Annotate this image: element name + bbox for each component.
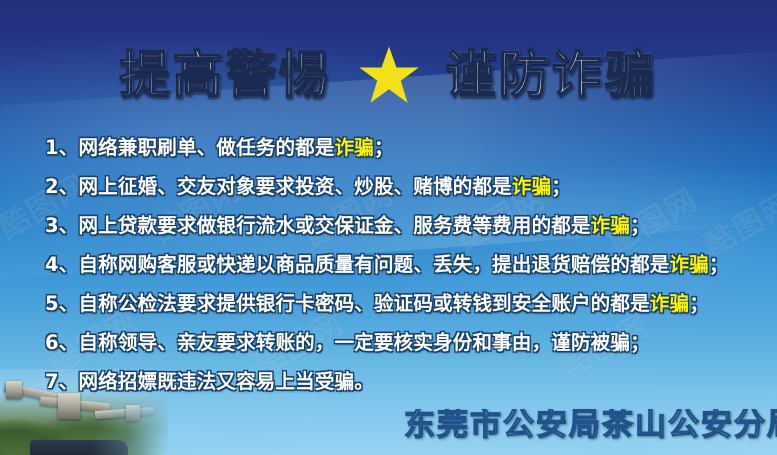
list-item-number: 5、 xyxy=(45,294,78,314)
list-item-text: 网络兼职刷单、做任务的都是 xyxy=(78,138,334,158)
list-item-text: 网上征婚、交友对象要求投资、炒股、赌博的都是 xyxy=(78,177,511,197)
list-item-text: 自称网购客服或快递以商品质量有问题、丢失，提出退货赔偿的都是 xyxy=(78,255,669,275)
list-item-number: 3、 xyxy=(45,216,78,236)
wall-segment-right xyxy=(95,407,155,419)
list-item-highlight: 诈骗 xyxy=(650,294,689,314)
list-item-highlight: 诈骗 xyxy=(512,177,551,197)
list-item: 7、网络招嫖既违法又容易上当受骗。 xyxy=(0,362,777,401)
title-left-text: 提高警惕 xyxy=(120,50,332,100)
list-item: 3、网上贷款要求做银行流水或交保证金、服务费等费用的都是诈骗； xyxy=(0,206,777,245)
list-item-suffix: ； xyxy=(630,216,650,236)
title-right-text: 谨防诈骗 xyxy=(446,50,658,100)
anti-fraud-poster: 酷图网 酷图网 酷图网 酷图网 酷图网 酷图网 酷图网 酷图网 酷图网 提高警惕… xyxy=(0,0,777,455)
list-item-number: 7、 xyxy=(45,372,78,392)
list-item-highlight: 诈骗 xyxy=(669,255,708,275)
list-item-number: 4、 xyxy=(45,255,78,275)
list-item-text: 网上贷款要求做银行流水或交保证金、服务费等费用的都是 xyxy=(78,216,590,236)
five-pointed-star-icon xyxy=(358,45,420,105)
list-item-text: 网络招嫖既违法又容易上当受骗。 xyxy=(78,372,374,392)
list-item-highlight: 诈骗 xyxy=(335,138,374,158)
list-item-suffix: ； xyxy=(689,294,709,314)
list-item-text: 自称领导、亲友要求转账的，一定要核实身份和事由，谨防被骗； xyxy=(78,333,649,353)
wall-watchtower-right xyxy=(126,405,140,421)
list-item-suffix: ； xyxy=(709,255,729,275)
photo-foreground-shadow xyxy=(30,440,127,455)
list-item-number: 6、 xyxy=(45,333,78,353)
list-item: 1、网络兼职刷单、做任务的都是诈骗； xyxy=(0,128,777,167)
issuing-authority-signature: 东莞市公安局茶山公安分局 xyxy=(404,409,777,442)
list-item-text: 自称公检法要求提供银行卡密码、验证码或转钱到安全账户的都是 xyxy=(78,294,649,314)
list-item-suffix: ； xyxy=(374,138,394,158)
list-item-number: 1、 xyxy=(45,138,78,158)
list-item: 2、网上征婚、交友对象要求投资、炒股、赌博的都是诈骗； xyxy=(0,167,777,206)
poster-title: 提高警惕 谨防诈骗 xyxy=(0,44,777,106)
list-item-suffix: ； xyxy=(551,177,571,197)
list-item: 6、自称领导、亲友要求转账的，一定要核实身份和事由，谨防被骗； xyxy=(0,323,777,362)
list-item: 5、自称公检法要求提供银行卡密码、验证码或转钱到安全账户的都是诈骗； xyxy=(0,284,777,323)
list-item-number: 2、 xyxy=(45,177,78,197)
tips-list: 1、网络兼职刷单、做任务的都是诈骗； 2、网上征婚、交友对象要求投资、炒股、赌博… xyxy=(0,128,777,401)
list-item: 4、自称网购客服或快递以商品质量有问题、丢失，提出退货赔偿的都是诈骗； xyxy=(0,245,777,284)
list-item-highlight: 诈骗 xyxy=(591,216,630,236)
